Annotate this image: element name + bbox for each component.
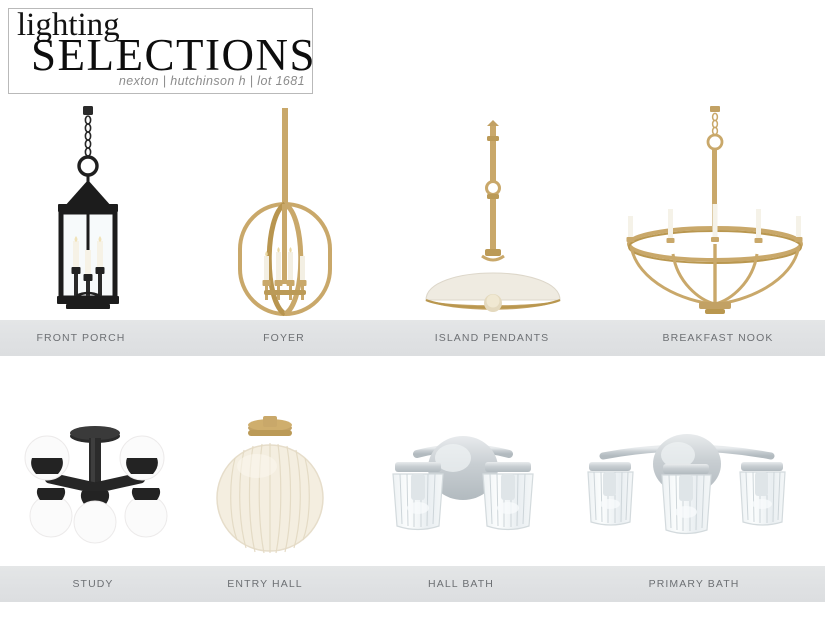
label-strip-row-1: FRONT PORCH FOYER ISLAND PENDANTS BREAKF…: [0, 320, 825, 356]
globe-semi-flush-icon: [20, 400, 170, 565]
fixture-label-foyer: FOYER: [263, 332, 305, 344]
dome-pendant-icon: [408, 104, 578, 320]
fixture-cell-study[interactable]: [0, 400, 190, 565]
fixture-cell-island-pendants[interactable]: [395, 104, 590, 320]
brand-subtitle: nexton | hutchinson h | lot 1681: [119, 74, 305, 88]
fixture-cell-foyer[interactable]: [190, 104, 380, 320]
outdoor-lantern-pendant-icon: [28, 104, 148, 320]
fixture-cell-primary-bath[interactable]: [570, 400, 805, 565]
ribbed-globe-flush-icon: [215, 400, 325, 565]
brand-logo-box: lighting SELECTIONS nexton | hutchinson …: [8, 8, 313, 94]
oval-cage-lantern-icon: [220, 104, 350, 320]
fixture-row-2: [0, 400, 825, 565]
fixture-label-study: STUDY: [72, 578, 113, 590]
fixture-label-entry-hall: ENTRY HALL: [227, 578, 302, 590]
fixture-cell-hall-bath[interactable]: [365, 400, 560, 565]
fixture-label-front-porch: FRONT PORCH: [37, 332, 126, 344]
fixture-label-primary-bath: PRIMARY BATH: [649, 578, 740, 590]
fixture-label-hall-bath: HALL BATH: [428, 578, 494, 590]
fixture-label-island-pendants: ISLAND PENDANTS: [435, 332, 550, 344]
vanity-three-light-icon: [575, 400, 800, 565]
fixture-cell-entry-hall[interactable]: [200, 400, 340, 565]
ring-chandelier-icon: [615, 104, 815, 320]
label-strip-row-2: STUDY ENTRY HALL HALL BATH PRIMARY BATH: [0, 566, 825, 602]
vanity-two-light-icon: [373, 400, 553, 565]
fixture-cell-front-porch[interactable]: [0, 104, 175, 320]
fixture-cell-breakfast-nook[interactable]: [605, 104, 825, 320]
fixture-label-breakfast-nook: BREAKFAST NOOK: [663, 332, 774, 344]
fixture-row-1: [0, 104, 825, 320]
